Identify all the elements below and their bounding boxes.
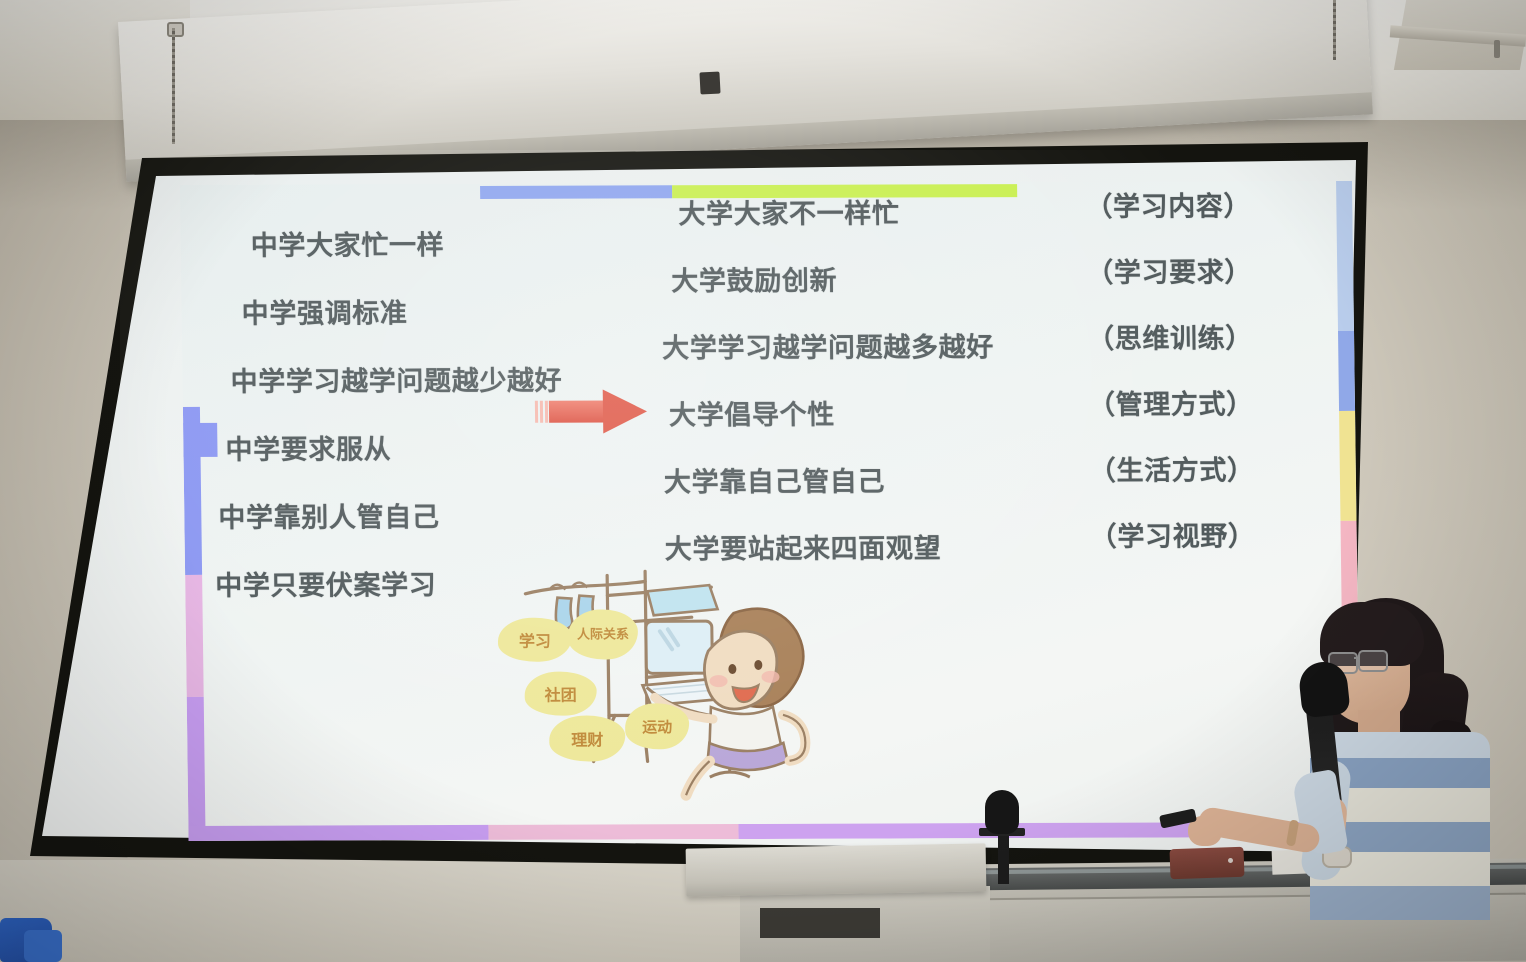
bubble-interpersonal: 人际关系 (568, 609, 639, 659)
category-line-5: （生活方式） (1089, 457, 1339, 485)
university-line-4: 大学倡导个性 (663, 401, 1093, 429)
blue-object-floor-2 (24, 930, 62, 962)
decor-band-left-pink (185, 575, 204, 697)
decor-band-left-purple (187, 697, 206, 841)
decor-band-top-blue (480, 185, 672, 199)
glasses-right-lens (1358, 650, 1388, 672)
chair-rivet (1228, 858, 1233, 863)
decor-band-right-yellow (1339, 411, 1356, 521)
classroom-screenshot: 中学大家忙一样 中学强调标准 中学学习越学问题越少越好 中学要求服从 中学靠别人… (0, 0, 1526, 962)
decor-band-right-blue (1336, 181, 1354, 331)
university-line-3: 大学学习越学问题越多越好 (662, 334, 1092, 362)
chair-back (1169, 847, 1244, 880)
podium-shelf-opening (760, 908, 880, 938)
glasses-bridge (1354, 657, 1360, 659)
category-line-6: （学习视野） (1090, 523, 1340, 551)
arrow-head (603, 389, 648, 433)
category-line-1: （学习内容） (1085, 193, 1335, 221)
bubble-study: 学习 (498, 618, 573, 662)
shirt-stripe-6 (1310, 886, 1490, 920)
category-line-2: （学习要求） (1086, 259, 1336, 287)
bubble-club: 社团 (524, 672, 597, 716)
arrow-tail-stripe-2 (540, 401, 543, 423)
projection-screen: 中学大家忙一样 中学强调标准 中学学习越学问题越少越好 中学要求服从 中学靠别人… (30, 140, 1372, 880)
decor-band-bottom-purple (188, 825, 488, 841)
column-university: 大学大家不一样忙 大学鼓励创新 大学学习越学问题越多越好 大学倡导个性 大学靠自… (660, 200, 1095, 603)
shirt-stripe-1 (1310, 732, 1490, 758)
wall-fixture (1494, 40, 1500, 58)
arrow-body (549, 400, 609, 422)
middle-school-line-2: 中学强调标准 (212, 299, 672, 328)
pull-chain-right[interactable] (1333, 0, 1336, 60)
presenter (1270, 580, 1520, 880)
university-line-5: 大学靠自己管自己 (664, 468, 1094, 496)
bubble-finance: 理财 (549, 715, 626, 761)
middle-school-line-1: 中学大家忙一样 (211, 231, 671, 260)
screen-bracket (699, 71, 720, 94)
category-line-3: （思维训练） (1087, 325, 1337, 353)
presentation-slide: 中学大家忙一样 中学强调标准 中学学习越学问题越少越好 中学要求服从 中学靠别人… (180, 181, 1361, 841)
podium-microphone-icon (985, 790, 1019, 834)
column-categories: （学习内容） （学习要求） （思维训练） （管理方式） （生活方式） （学习视野… (1085, 193, 1340, 590)
middle-school-line-5: 中学靠别人管自己 (214, 503, 674, 532)
podium-top (686, 843, 987, 896)
decor-band-right-blue-2 (1338, 331, 1355, 411)
university-line-2: 大学鼓励创新 (661, 267, 1091, 295)
middle-school-line-4: 中学要求服从 (213, 435, 673, 464)
decor-band-top-green (672, 184, 1017, 198)
bubble-sports: 运动 (625, 703, 690, 749)
pull-chain-left[interactable] (172, 28, 175, 144)
arrow-tail-stripe-1 (535, 401, 538, 423)
right-arrow-icon (535, 391, 648, 431)
cartoon-illustration: 学习 人际关系 社团 理财 运动 (495, 565, 828, 816)
chain-hook-left (167, 22, 184, 37)
university-line-6: 大学要站起来四面观望 (665, 535, 1095, 563)
decor-band-bottom-pink (488, 824, 738, 840)
university-line-1: 大学大家不一样忙 (660, 200, 1090, 228)
arrow-tail-stripe-3 (545, 401, 548, 423)
category-line-4: （管理方式） (1088, 391, 1338, 419)
